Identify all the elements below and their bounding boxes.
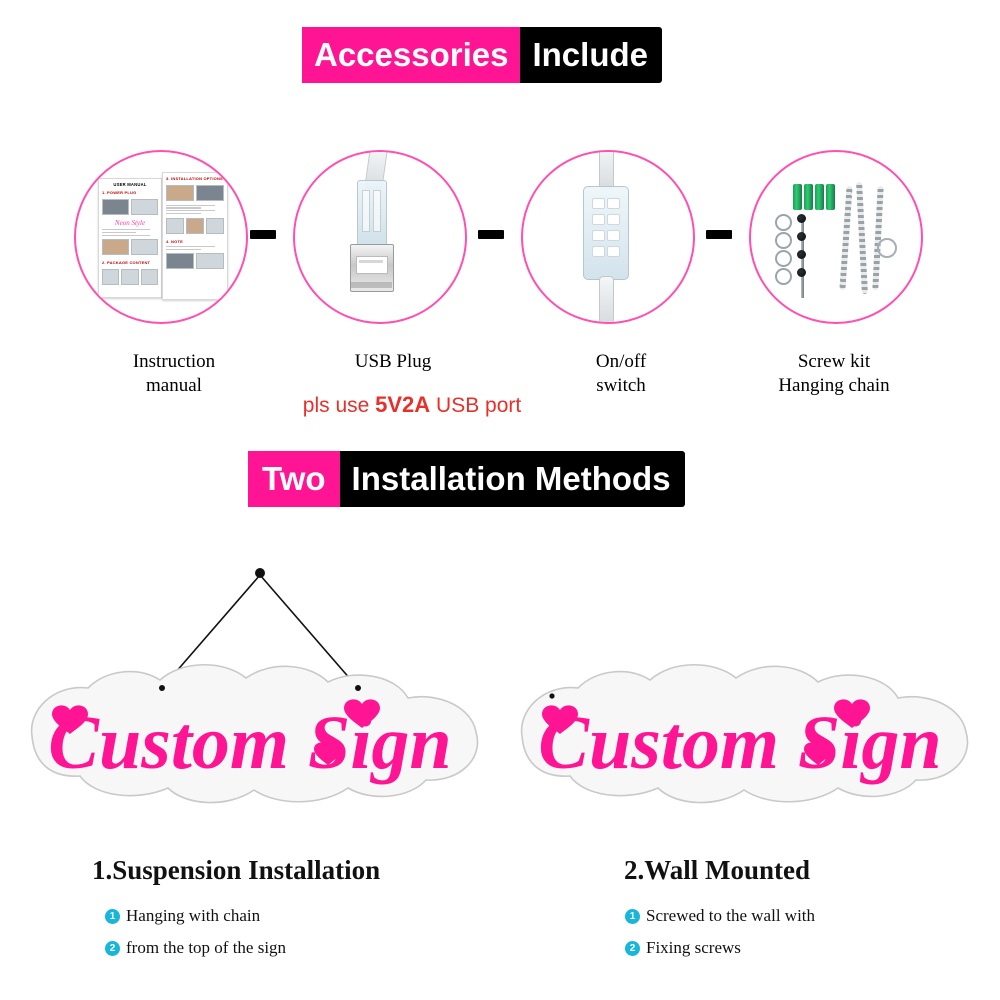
accessory-circle-usb [293, 150, 467, 324]
switch-cable-top [599, 150, 614, 190]
banner-accessories: Accessories Include [302, 27, 662, 83]
manual-left-title: USER MANUAL [99, 182, 161, 187]
switch-body [583, 186, 629, 280]
usb-note-suffix: USB port [430, 394, 521, 417]
manual-left-thumbs2 [99, 237, 161, 257]
manual-page-left: USER MANUAL 1. POWER PLUG Neon Style 2. … [98, 178, 162, 298]
usb-connector-tongue [356, 256, 388, 274]
bullet-number: 2 [105, 941, 120, 956]
bullet-text: from the top of the sign [126, 938, 286, 958]
caption-manual: Instruction manual [64, 350, 284, 398]
caption-screwkit: Screw kit Hanging chain [724, 350, 944, 398]
banner-methods-highlight: Two [248, 451, 340, 507]
separator-dash-3 [706, 230, 732, 239]
manual-right-lines [163, 205, 227, 215]
method-1-bullet-1: 1 Hanging with chain [105, 906, 260, 926]
usb-note-strong: 5V2A [375, 392, 430, 417]
separator-dash-2 [478, 230, 504, 239]
manual-right-thumbs [163, 183, 227, 203]
manual-left-thumbs3 [99, 267, 161, 287]
accessory-circle-screwkit [749, 150, 923, 324]
manual-right-thumbs3 [163, 251, 227, 271]
usb-port-note: pls use 5V2A USB port [262, 392, 562, 418]
manual-left-note: 2. PACKAGE CONTENT [102, 260, 161, 265]
manual-page-right: 3. INSTALLATION OPTIONS 4. NOTE [162, 172, 228, 300]
method-2-bullet-2: 2 Fixing screws [625, 938, 741, 958]
accessory-circle-switch [521, 150, 695, 324]
caption-usb: USB Plug [283, 350, 503, 374]
manual-left-lines [99, 229, 161, 236]
caption-screwkit-line2: Hanging chain [724, 374, 944, 398]
method-2-bullet-1: 1 Screwed to the wall with [625, 906, 815, 926]
method-2-title: 2.Wall Mounted [624, 855, 810, 886]
bullet-text: Hanging with chain [126, 906, 260, 926]
sign-suspension-svg: Custom Sign [10, 560, 510, 820]
manual-right-note: 4. NOTE [166, 239, 227, 244]
manual-left-thumbs [99, 197, 161, 217]
sign-suspension: Custom Sign [10, 560, 510, 820]
sign-suspension-text: Custom Sign [48, 701, 451, 785]
bullet-number: 1 [105, 909, 120, 924]
bullet-number: 1 [625, 909, 640, 924]
banner-accessories-rest: Include [520, 27, 662, 83]
method-1-title: 1.Suspension Installation [92, 855, 380, 886]
sign-wall-svg: Custom Sign [500, 640, 1000, 820]
usb-note-prefix: pls use [303, 394, 375, 417]
manual-left-script: Neon Style [99, 219, 161, 227]
manual-right-lines2 [163, 246, 227, 250]
banner-methods-rest: Installation Methods [340, 451, 685, 507]
method-1-bullet-2: 2 from the top of the sign [105, 938, 286, 958]
manual-right-thumbs2 [163, 216, 227, 236]
bullet-number: 2 [625, 941, 640, 956]
manual-right-title: 3. INSTALLATION OPTIONS [166, 176, 227, 181]
caption-screwkit-line1: Screw kit [724, 350, 944, 374]
manual-left-section: 1. POWER PLUG [102, 190, 161, 195]
caption-switch: On/off switch [511, 350, 731, 398]
caption-manual-line1: Instruction [64, 350, 284, 374]
sign-wall-text: Custom Sign [538, 701, 941, 785]
accessory-circle-manual: USER MANUAL 1. POWER PLUG Neon Style 2. … [74, 150, 248, 324]
banner-accessories-highlight: Accessories [302, 27, 520, 83]
caption-switch-line1: On/off [511, 350, 731, 374]
bullet-text: Screwed to the wall with [646, 906, 815, 926]
caption-manual-line2: manual [64, 374, 284, 398]
bullet-text: Fixing screws [646, 938, 741, 958]
caption-usb-line1: USB Plug [283, 350, 503, 374]
separator-dash-1 [250, 230, 276, 239]
switch-cable-bottom [599, 276, 614, 324]
sign-wall-mounted: Custom Sign [500, 640, 1000, 820]
banner-installation-methods: Two Installation Methods [248, 451, 685, 507]
